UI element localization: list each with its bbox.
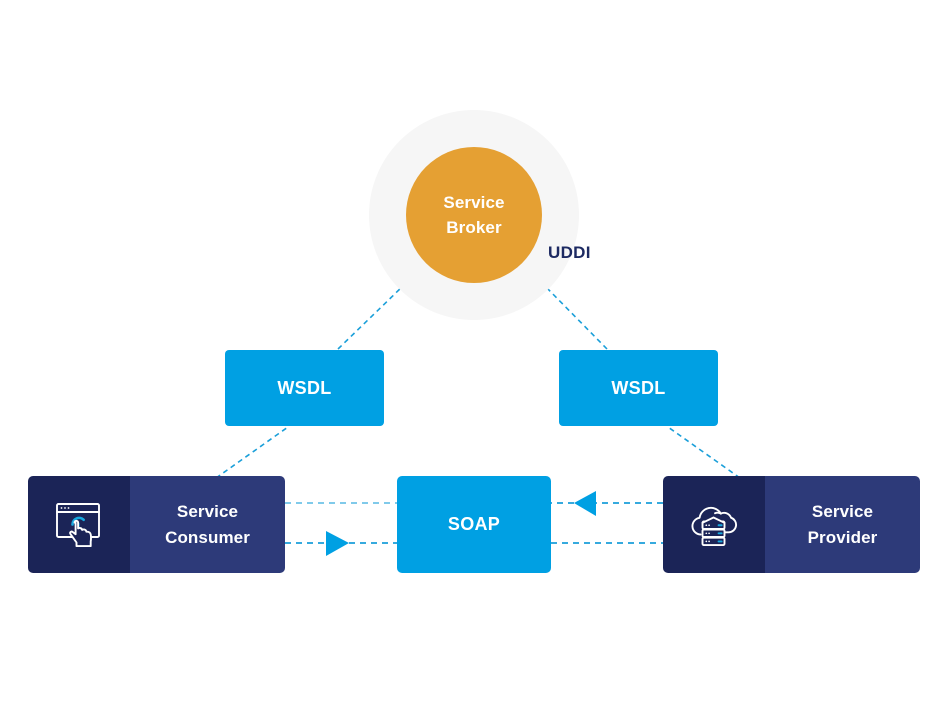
connector-layer (0, 0, 948, 711)
diagram-canvas: Service Broker UDDI WSDL WSDL SOAP (0, 0, 948, 711)
soap-box[interactable]: SOAP (397, 476, 551, 573)
connector-wsdl-right-to-broker (544, 285, 607, 349)
service-provider-label: Service Provider (808, 499, 878, 550)
wsdl-label-left: WSDL (277, 378, 331, 399)
service-consumer-label-line2: Consumer (165, 528, 250, 547)
wsdl-label-right: WSDL (611, 378, 665, 399)
cloud-server-icon (685, 500, 743, 550)
service-provider-node[interactable]: Service Provider (663, 476, 920, 573)
service-broker-node[interactable]: Service Broker (406, 147, 542, 283)
service-provider-label-line1: Service (812, 502, 873, 521)
uddi-label: UDDI (548, 243, 591, 263)
arrowhead-response-left (574, 491, 596, 516)
connector-wsdl-left-to-broker (338, 285, 404, 349)
service-consumer-text-pane: Service Consumer (130, 476, 285, 573)
service-consumer-label: Service Consumer (165, 499, 250, 550)
service-consumer-icon-pane (28, 476, 130, 573)
service-consumer-label-line1: Service (177, 502, 238, 521)
wsdl-box-right[interactable]: WSDL (559, 350, 718, 426)
connector-consumer-to-wsdl-left (216, 427, 288, 478)
soap-label: SOAP (448, 514, 500, 535)
service-provider-icon-pane (663, 476, 765, 573)
browser-click-icon (52, 500, 106, 550)
service-broker-label-line2: Broker (446, 218, 501, 237)
service-broker-label-line1: Service (443, 193, 504, 212)
arrowhead-request-right (326, 531, 349, 556)
wsdl-box-left[interactable]: WSDL (225, 350, 384, 426)
service-broker-label: Service Broker (443, 190, 504, 241)
service-consumer-node[interactable]: Service Consumer (28, 476, 285, 573)
service-provider-text-pane: Service Provider (765, 476, 920, 573)
service-provider-label-line2: Provider (808, 528, 878, 547)
connector-provider-to-wsdl-right (668, 427, 740, 478)
